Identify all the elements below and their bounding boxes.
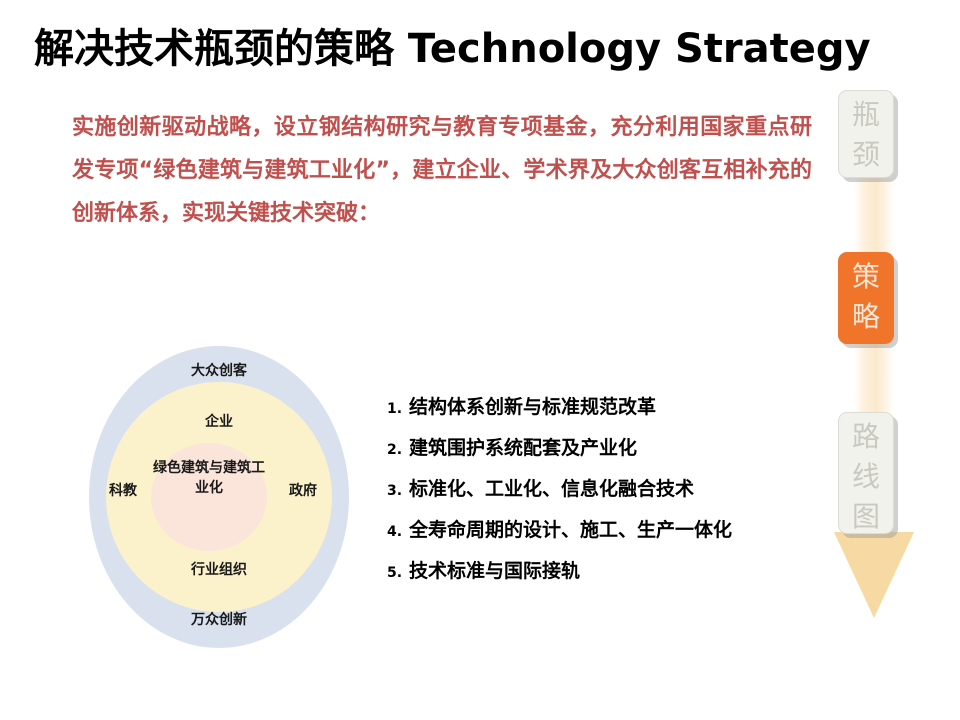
ring-label-outer-top: 大众创客 bbox=[89, 363, 349, 380]
page-title: 解决技术瓶颈的策略 Technology Strategy bbox=[34, 26, 894, 72]
list-item-label: 全寿命周期的设计、施工、生产一体化 bbox=[409, 515, 732, 542]
strategy-list: 1. 结构体系创新与标准规范改革 2. 建筑围护系统配套及产业化 3. 标准化、… bbox=[387, 392, 837, 597]
list-item-label: 标准化、工业化、信息化融合技术 bbox=[409, 474, 694, 501]
list-item-label: 建筑围护系统配套及产业化 bbox=[409, 433, 637, 460]
list-item-number: 3. bbox=[387, 483, 409, 499]
nav-step-char: 颈 bbox=[839, 135, 893, 175]
list-item: 1. 结构体系创新与标准规范改革 bbox=[387, 392, 837, 419]
list-item-label: 结构体系创新与标准规范改革 bbox=[409, 392, 656, 419]
nav-step-char: 瓶 bbox=[839, 95, 893, 135]
list-item-number: 1. bbox=[387, 401, 409, 417]
slide-root: 解决技术瓶颈的策略 Technology Strategy 实施创新驱动战略，设… bbox=[0, 0, 960, 720]
ring-label-mid-left: 科教 bbox=[95, 483, 151, 500]
ring-label-core: 绿色建筑与建筑工业化 bbox=[151, 458, 267, 498]
list-item: 3. 标准化、工业化、信息化融合技术 bbox=[387, 474, 837, 501]
progress-arrow-nav: 瓶 颈 策 略 路 线 图 bbox=[826, 86, 954, 620]
concentric-circle-diagram: 大众创客 企业 科教 政府 绿色建筑与建筑工业化 行业组织 万众创新 bbox=[89, 346, 349, 648]
nav-step-char: 略 bbox=[839, 297, 893, 337]
nav-step-char: 线 bbox=[839, 457, 893, 497]
list-item: 2. 建筑围护系统配套及产业化 bbox=[387, 433, 837, 460]
nav-step-char: 策 bbox=[839, 257, 893, 297]
nav-step-roadmap[interactable]: 路 线 图 bbox=[838, 412, 894, 534]
list-item-number: 4. bbox=[387, 524, 409, 540]
intro-paragraph: 实施创新驱动战略，设立钢结构研究与教育专项基金，充分利用国家重点研发专项“绿色建… bbox=[72, 106, 812, 235]
list-item-number: 2. bbox=[387, 442, 409, 458]
list-item-label: 技术标准与国际接轨 bbox=[409, 556, 580, 583]
list-item: 4. 全寿命周期的设计、施工、生产一体化 bbox=[387, 515, 837, 542]
ring-label-mid-bottom: 行业组织 bbox=[89, 562, 349, 579]
ring-label-mid-right: 政府 bbox=[273, 483, 333, 500]
nav-step-bottleneck[interactable]: 瓶 颈 bbox=[838, 90, 894, 178]
list-item: 5. 技术标准与国际接轨 bbox=[387, 556, 837, 583]
list-item-number: 5. bbox=[387, 565, 409, 581]
arrow-down-icon bbox=[834, 532, 914, 618]
nav-step-strategy[interactable]: 策 略 bbox=[838, 252, 894, 344]
nav-step-char: 路 bbox=[839, 417, 893, 457]
nav-step-char: 图 bbox=[839, 497, 893, 537]
ring-label-mid-top: 企业 bbox=[89, 414, 349, 431]
ring-label-outer-bottom: 万众创新 bbox=[89, 612, 349, 629]
